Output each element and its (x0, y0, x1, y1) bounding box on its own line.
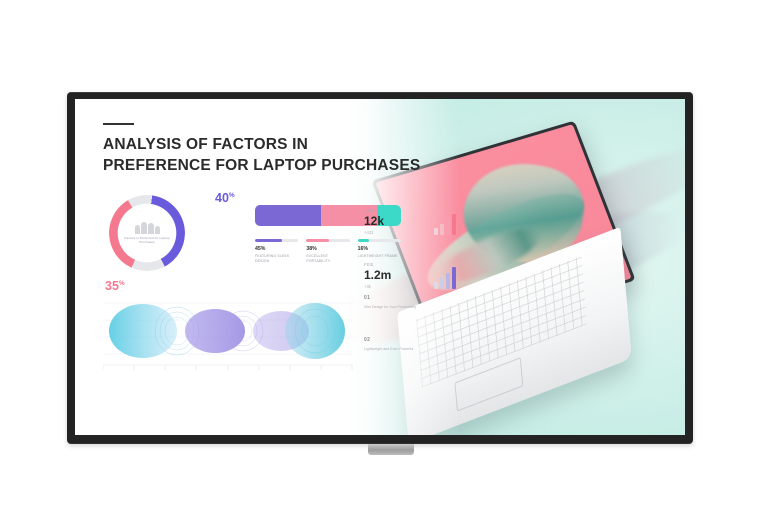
legend-bar (255, 239, 298, 242)
wave-chart-svg (103, 295, 353, 373)
note-text: Lightweight and Even Powerful (364, 347, 450, 353)
wave-axis (103, 365, 353, 370)
legend-item: 45% FEATURING SLEEK DESIGN (255, 239, 298, 264)
note-number: 02 (364, 337, 450, 343)
page-title: ANALYSIS OF FACTORS IN PREFERENCE FOR LA… (103, 135, 429, 176)
kpi-sparkline (434, 213, 456, 235)
legend-percent: 38% (306, 246, 349, 252)
kpi-value: 1.2m (364, 269, 391, 282)
kpi-sparkline (434, 267, 456, 289)
display-monitor: ANALYSIS OF FACTORS IN PREFERENCE FOR LA… (67, 92, 693, 444)
people-icon (135, 222, 160, 234)
wave-chart (103, 295, 353, 373)
donut-label-secondary-unit: % (119, 280, 125, 287)
legend-percent: 45% (255, 246, 298, 252)
wave-envelopes (109, 303, 345, 359)
note-item: 02 Lightweight and Even Powerful (364, 337, 450, 353)
metrics-row: Factors in Preferred for Laptop Purchase… (103, 191, 403, 277)
donut-center: Factors in Preferred for Laptop Purchase… (109, 195, 185, 271)
notes-column: 01 Slim Design for Your Productivity 02 … (364, 295, 450, 353)
page-title-line-2: PREFERENCE FOR LAPTOP PURCHASES (103, 156, 429, 177)
kpi-column: JAN 12k +432 FEB (364, 191, 456, 289)
legend-label: EXCELLENT PORTABILITY (306, 254, 349, 265)
note-item: 01 Slim Design for Your Productivity (364, 295, 450, 311)
donut-label-secondary: 35% (105, 279, 125, 293)
kpi-delta: +3k (364, 284, 391, 289)
kpi-period: JAN (364, 208, 384, 213)
display-screen: ANALYSIS OF FACTORS IN PREFERENCE FOR LA… (75, 99, 685, 435)
page-title-line-1: ANALYSIS OF FACTORS IN (103, 135, 429, 156)
kpi-delta: +432 (364, 230, 384, 235)
stacked-bar-segment-1 (255, 205, 321, 226)
kpi-card: JAN 12k +432 (364, 191, 456, 235)
legend-item: 38% EXCELLENT PORTABILITY (306, 239, 349, 264)
legend-bar (306, 239, 349, 242)
monitor-stand (368, 444, 414, 455)
donut-chart: Factors in Preferred for Laptop Purchase… (109, 195, 185, 271)
note-text: Slim Design for Your Productivity (364, 305, 450, 311)
donut-label-primary-unit: % (229, 192, 235, 199)
kpi-card: FEB 1.2m +3k (364, 245, 456, 289)
donut-label-primary: 40% (215, 191, 235, 205)
donut-center-caption: Factors in Preferred for Laptop Purchase… (121, 236, 173, 245)
kpi-value: 12k (364, 215, 384, 228)
legend-label: FEATURING SLEEK DESIGN (255, 254, 298, 265)
title-rule (103, 123, 134, 125)
note-number: 01 (364, 295, 450, 301)
presentation-slide: ANALYSIS OF FACTORS IN PREFERENCE FOR LA… (75, 99, 685, 435)
kpi-period: FEB (364, 262, 391, 267)
screenshot-canvas: ANALYSIS OF FACTORS IN PREFERENCE FOR LA… (0, 0, 781, 516)
